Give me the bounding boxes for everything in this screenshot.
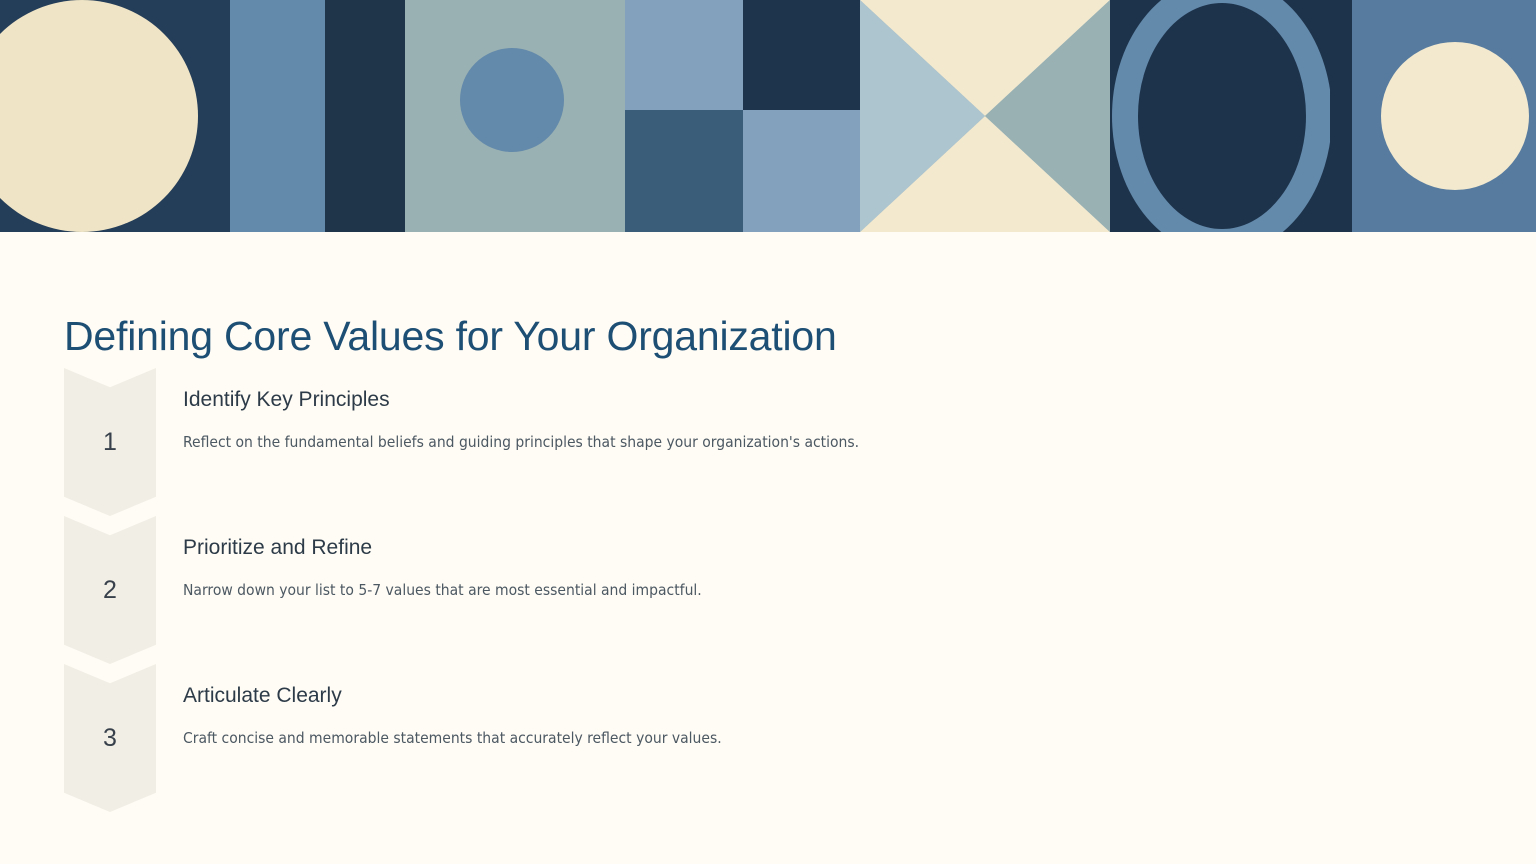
decorative-geometric-banner (0, 0, 1536, 232)
list-item[interactable]: 3 Articulate Clearly Craft concise and m… (0, 664, 1536, 812)
chevron-marker-1: 1 (64, 368, 156, 516)
slide-root: Defining Core Values for Your Organizati… (0, 0, 1536, 864)
step-number: 1 (64, 368, 156, 516)
step-body: Identify Key Principles Reflect on the f… (183, 386, 1283, 453)
list-item[interactable]: 1 Identify Key Principles Reflect on the… (0, 368, 1536, 516)
steps-list: 1 Identify Key Principles Reflect on the… (0, 368, 1536, 812)
chevron-marker-2: 2 (64, 516, 156, 664)
step-heading: Articulate Clearly (183, 682, 1283, 710)
list-item[interactable]: 2 Prioritize and Refine Narrow down your… (0, 516, 1536, 664)
step-heading: Prioritize and Refine (183, 534, 1283, 562)
step-description: Reflect on the fundamental beliefs and g… (183, 431, 1283, 453)
step-body: Prioritize and Refine Narrow down your l… (183, 534, 1283, 601)
chevron-marker-3: 3 (64, 664, 156, 812)
step-body: Articulate Clearly Craft concise and mem… (183, 682, 1283, 749)
step-description: Narrow down your list to 5-7 values that… (183, 579, 1283, 601)
page-title: Defining Core Values for Your Organizati… (64, 310, 837, 362)
step-heading: Identify Key Principles (183, 386, 1283, 414)
banner-artwork (0, 0, 1536, 232)
step-number: 2 (64, 516, 156, 664)
step-description: Craft concise and memorable statements t… (183, 727, 1283, 749)
banner-texture-overlay (0, 0, 1536, 232)
step-number: 3 (64, 664, 156, 812)
